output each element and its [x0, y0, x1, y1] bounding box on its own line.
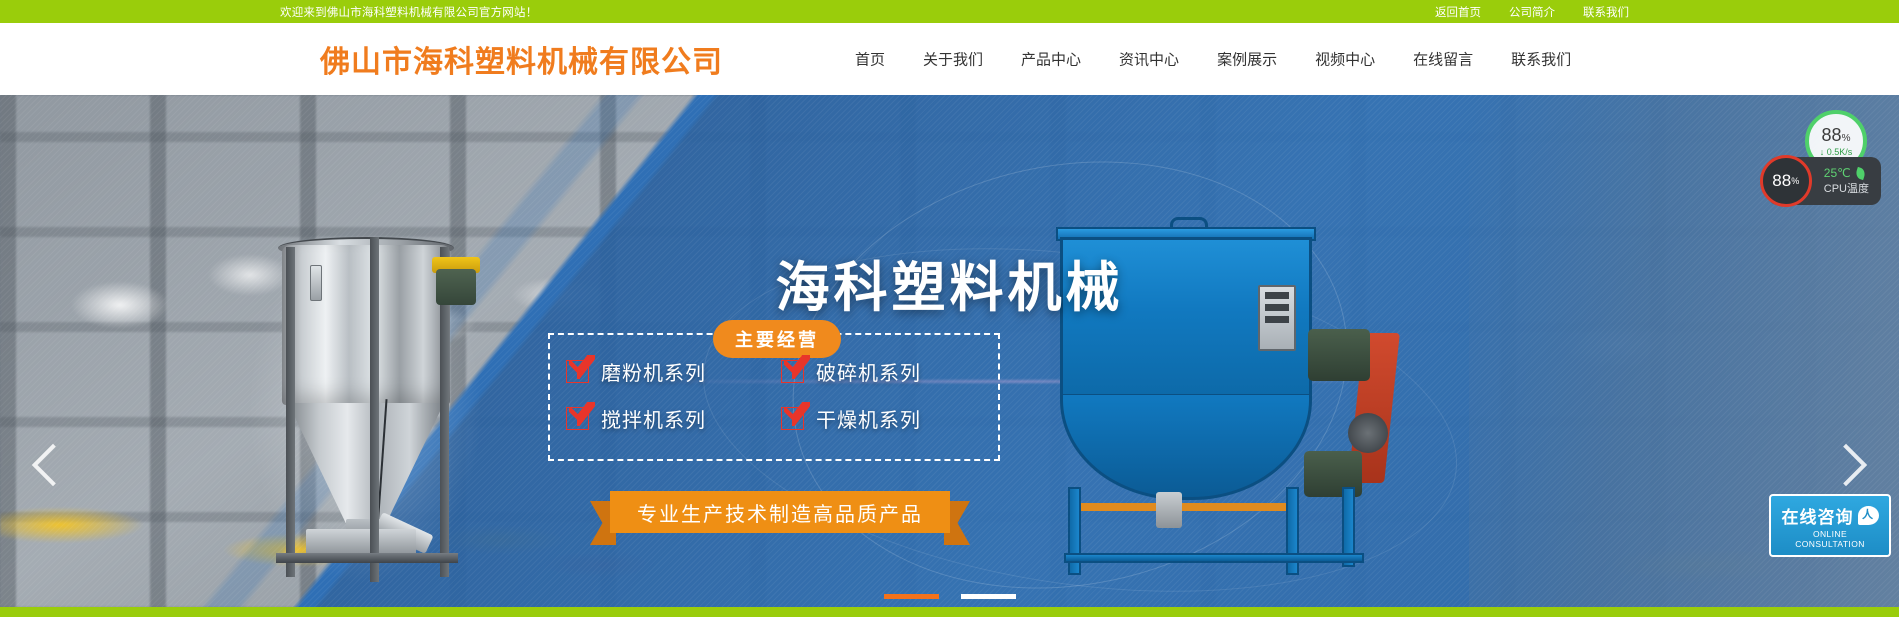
blender-pulley [1348, 413, 1388, 453]
cpu-temperature-label: CPU温度 [1824, 180, 1869, 196]
feature-label: 干燥机系列 [816, 404, 921, 433]
hero-banner: 海科塑料机械 主要经营 磨粉机系列 破碎机系列 搅拌机系列 干燥机系列 专业生产… [0, 95, 1899, 617]
consultation-title: 在线咨询 人 [1779, 503, 1881, 528]
feature-item-dryer: 干燥机系列 [781, 404, 986, 433]
nav-item-products[interactable]: 产品中心 [1021, 49, 1081, 70]
cpu-monitor-widget[interactable]: 88% 25℃ CPU温度 [1768, 157, 1881, 205]
check-icon [566, 407, 589, 430]
feature-item-grinder: 磨粉机系列 [566, 357, 771, 386]
nav-item-video[interactable]: 视频中心 [1315, 49, 1375, 70]
cpu-usage-ring: 88% [1760, 155, 1812, 207]
top-link-home[interactable]: 返回首页 [1435, 4, 1481, 20]
feature-label: 磨粉机系列 [601, 357, 706, 386]
feature-list: 磨粉机系列 破碎机系列 搅拌机系列 干燥机系列 [566, 357, 986, 433]
nav-item-contact[interactable]: 联系我们 [1511, 49, 1571, 70]
bottom-green-strip [0, 607, 1899, 617]
check-icon [781, 407, 804, 430]
feature-item-crusher: 破碎机系列 [781, 357, 986, 386]
site-logo[interactable]: 佛山市海科塑料机械有限公司 [320, 37, 723, 81]
carousel-indicator-1[interactable] [884, 594, 939, 599]
mixer-frame-base [276, 553, 458, 563]
feature-item-mixer: 搅拌机系列 [566, 404, 771, 433]
cpu-temperature: 25℃ [1824, 166, 1869, 180]
top-link-about[interactable]: 公司简介 [1509, 4, 1555, 20]
carousel-indicators [0, 594, 1899, 599]
hero-title: 海科塑料机械 [0, 243, 1899, 322]
nav-item-cases[interactable]: 案例展示 [1217, 49, 1277, 70]
consultation-subtitle: ONLINE CONSULTATION [1779, 529, 1881, 549]
network-speed: ↓ 0.5K/s [1820, 147, 1853, 157]
mixer-base-plate [306, 529, 416, 555]
mixer-cone [288, 403, 444, 523]
check-icon [781, 360, 804, 383]
blender-trough [1060, 395, 1312, 500]
feature-label: 破碎机系列 [816, 357, 921, 386]
nav-item-message[interactable]: 在线留言 [1413, 49, 1473, 70]
blender-outlet [1156, 492, 1182, 528]
welcome-text: 欢迎来到佛山市海科塑料机械有限公司官方网站！ [280, 4, 537, 20]
nav-item-about[interactable]: 关于我们 [923, 49, 983, 70]
leaf-icon [1854, 166, 1866, 179]
slogan-text: 专业生产技术制造高品质产品 [610, 491, 950, 533]
nav-item-news[interactable]: 资讯中心 [1119, 49, 1179, 70]
site-header: 佛山市海科塑料机械有限公司 首页 关于我们 产品中心 资讯中心 案例展示 视频中… [0, 23, 1899, 95]
feature-label: 搅拌机系列 [601, 404, 706, 433]
blender-motor [1308, 329, 1370, 381]
slogan-ribbon: 专业生产技术制造高品质产品 [590, 491, 970, 533]
check-icon [566, 360, 589, 383]
carousel-indicator-2[interactable] [961, 594, 1016, 599]
nav-item-home[interactable]: 首页 [855, 49, 885, 70]
blender-crossbar [1064, 553, 1364, 563]
online-consultation-button[interactable]: 在线咨询 人 ONLINE CONSULTATION [1769, 494, 1891, 557]
top-bar-links: 返回首页 公司简介 联系我们 [1435, 4, 1629, 20]
main-navigation: 首页 关于我们 产品中心 资讯中心 案例展示 视频中心 在线留言 联系我们 [855, 49, 1571, 70]
chat-bubble-icon: 人 [1858, 506, 1879, 525]
top-link-contact[interactable]: 联系我们 [1583, 4, 1629, 20]
network-percent: 88% [1822, 126, 1851, 144]
top-bar: 欢迎来到佛山市海科塑料机械有限公司官方网站！ 返回首页 公司简介 联系我们 [0, 0, 1899, 23]
main-business-badge: 主要经营 [713, 320, 841, 358]
